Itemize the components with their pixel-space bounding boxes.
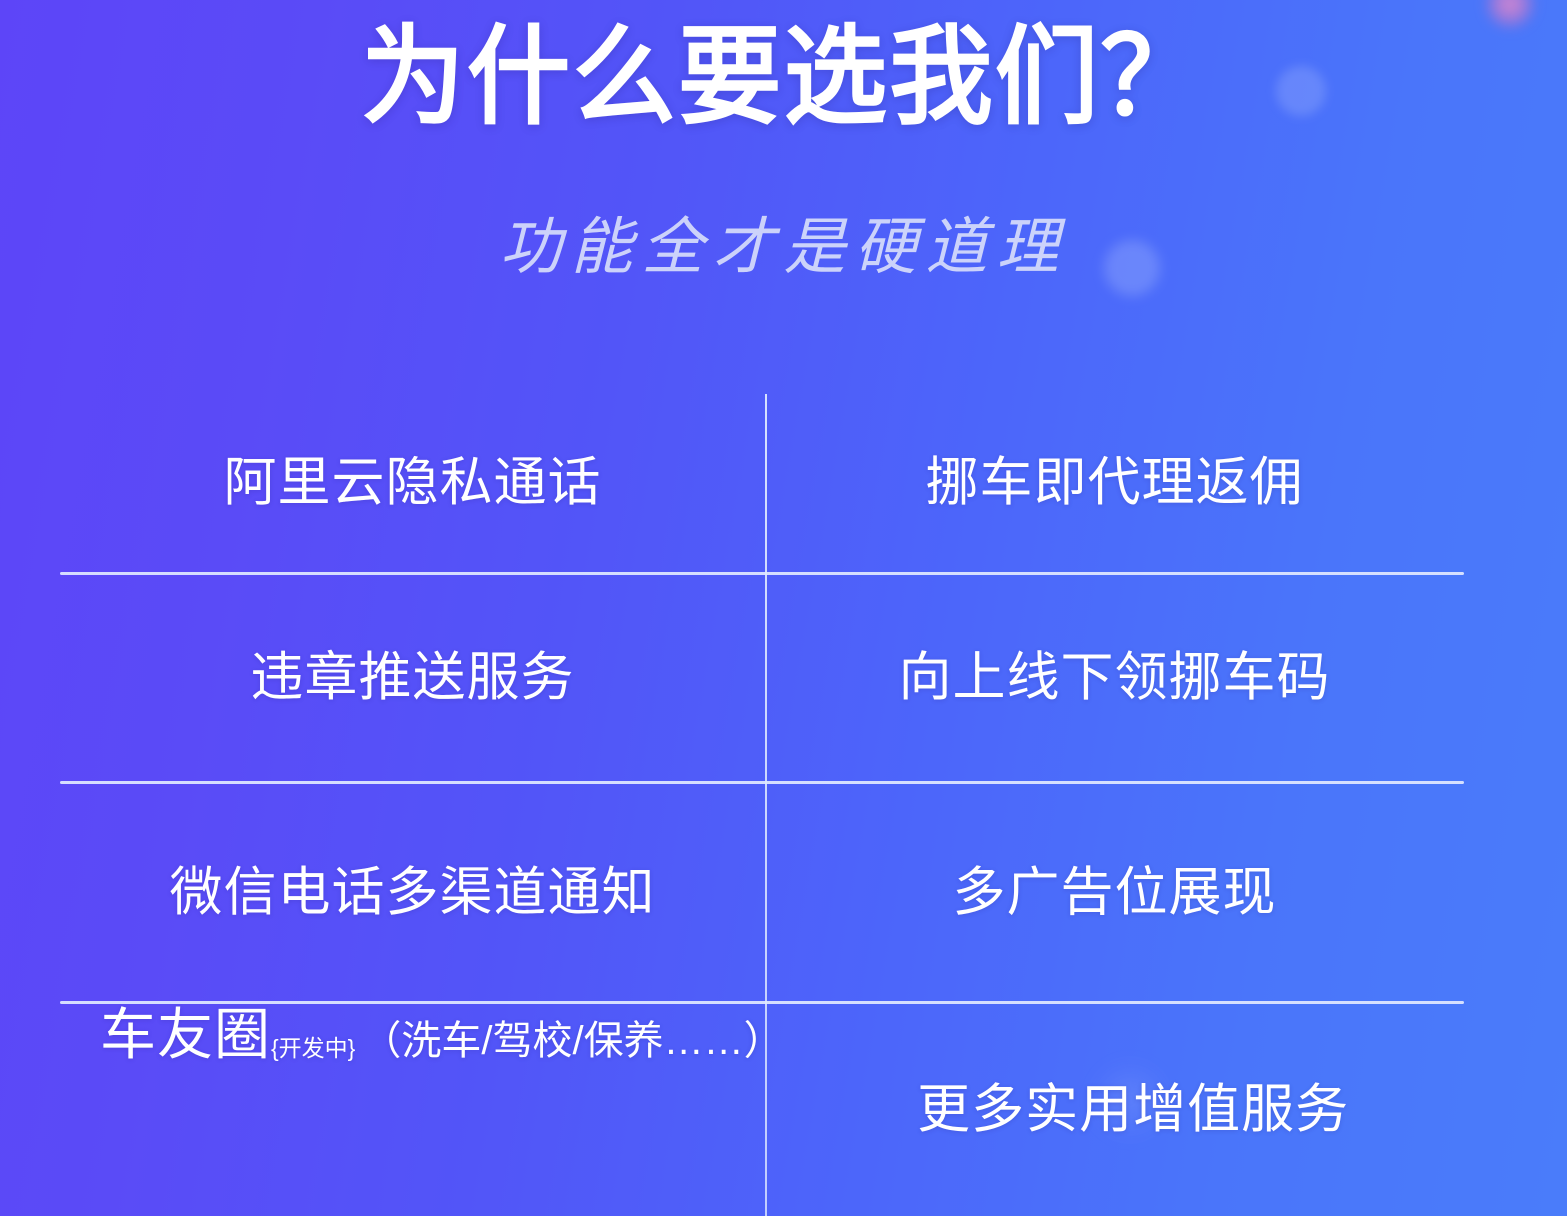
feature-cell-left: 微信电话多渠道通知	[60, 784, 765, 1001]
feature-label-badge: {开发中}	[271, 1017, 355, 1079]
feature-cell-left: 阿里云隐私通话	[60, 394, 765, 572]
feature-cell-left: 违章推送服务	[60, 575, 765, 781]
feature-cell-right: 挪车即代理返佣	[765, 394, 1464, 572]
feature-cell-right: 多广告位展现	[765, 784, 1464, 1001]
feature-row: 微信电话多渠道通知 多广告位展现	[60, 784, 1464, 1001]
feature-row: 车友圈 {开发中} （洗车/驾校/保养……） 更多实用增值服务	[60, 1004, 1464, 1216]
feature-row: 违章推送服务 向上线下领挪车码	[60, 575, 1464, 781]
feature-row: 阿里云隐私通话 挪车即代理返佣	[60, 394, 1464, 572]
feature-grid: 阿里云隐私通话 挪车即代理返佣 违章推送服务 向上线下领挪车码 微信电话多渠道通…	[60, 394, 1464, 1216]
page-subtitle: 功能全才是硬道理	[0, 212, 1567, 284]
promo-banner: 为什么要选我们？ 功能全才是硬道理 阿里云隐私通话 挪车即代理返佣 违章推送服务…	[0, 0, 1567, 1216]
feature-cell-left: 车友圈 {开发中} （洗车/驾校/保养……）	[60, 1004, 784, 1216]
page-title: 为什么要选我们？	[31, 18, 1535, 136]
feature-cell-right: 更多实用增值服务	[784, 1004, 1483, 1216]
feature-label-tail: （洗车/驾校/保养……）	[361, 1010, 783, 1072]
feature-label-main: 车友圈	[100, 1004, 271, 1066]
feature-cell-right: 向上线下领挪车码	[765, 575, 1464, 781]
